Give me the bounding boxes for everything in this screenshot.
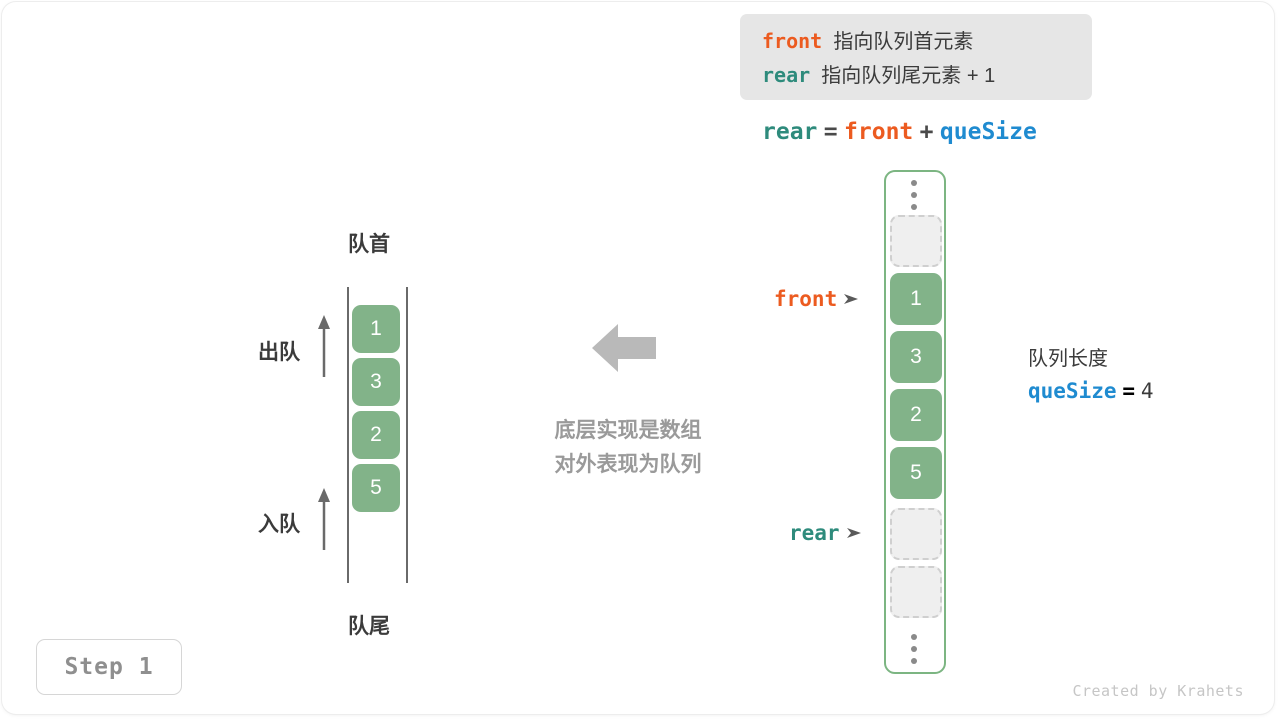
pointer-legend-box: front 指向队列首元素 rear 指向队列尾元素 + 1 (740, 14, 1092, 100)
implementation-caption: 底层实现是数组 对外表现为队列 (528, 414, 728, 482)
legend-front-code: front (762, 29, 822, 53)
array-slot-empty (890, 566, 942, 618)
diagram-canvas: front 指向队列首元素 rear 指向队列尾元素 + 1 rear = fr… (0, 0, 1280, 720)
array-slot-filled: 3 (890, 331, 942, 383)
queue-cell: 1 (352, 305, 400, 353)
quesize-equals: = (1122, 379, 1135, 403)
equation-rear: rear (762, 119, 817, 145)
enqueue-label: 入队 (258, 508, 300, 538)
front-pointer-arrowhead-icon (844, 287, 858, 311)
equation-front: front (844, 119, 913, 145)
legend-rear-code: rear (762, 63, 810, 87)
caption-line-1: 底层实现是数组 (528, 414, 728, 448)
queue-tail-label: 队尾 (348, 610, 390, 640)
front-pointer: front (774, 287, 858, 311)
array-slot-empty (890, 508, 942, 560)
dequeue-arrow-icon (316, 315, 332, 382)
queue-rail-right (406, 287, 408, 583)
equation-plus: + (920, 119, 934, 145)
vertical-ellipsis-icon-top (911, 180, 919, 216)
queue-size-title: 队列长度 (1028, 342, 1154, 371)
equation-quesize: queSize (940, 119, 1037, 145)
array-slot-filled: 1 (890, 273, 942, 325)
rear-pointer-label: rear (789, 521, 840, 545)
equation-equals: = (824, 119, 838, 145)
vertical-ellipsis-icon-bottom (911, 634, 919, 670)
credit-text: Created by Krahets (1072, 682, 1244, 700)
quesize-var: queSize (1028, 379, 1117, 403)
legend-line-rear: rear 指向队列尾元素 + 1 (762, 59, 995, 88)
dequeue-label: 出队 (258, 336, 300, 366)
queue-head-label: 队首 (348, 228, 390, 258)
left-arrow-icon (592, 320, 656, 381)
array-slot-filled: 2 (890, 389, 942, 441)
queue-cell: 2 (352, 411, 400, 459)
caption-line-2: 对外表现为队列 (528, 448, 728, 482)
array-slot-filled: 5 (890, 447, 942, 499)
array-slot-empty (890, 215, 942, 267)
queue-cell: 5 (352, 464, 400, 512)
legend-line-front: front 指向队列首元素 (762, 25, 973, 54)
legend-front-text: 指向队列首元素 (833, 31, 973, 53)
legend-rear-text: 指向队列尾元素 + 1 (821, 65, 995, 87)
rear-pointer: rear (789, 521, 861, 545)
front-pointer-label: front (774, 287, 837, 311)
queue-rail-left (347, 287, 349, 583)
queue-size-note: 队列长度 queSize = 4 (1028, 342, 1154, 404)
quesize-value: 4 (1141, 379, 1154, 403)
enqueue-arrow-icon (316, 488, 332, 555)
rear-pointer-arrowhead-icon (847, 521, 861, 545)
queue-cell: 3 (352, 358, 400, 406)
rear-equation: rear = front + queSize (762, 118, 1037, 145)
step-badge: Step 1 (36, 639, 182, 695)
